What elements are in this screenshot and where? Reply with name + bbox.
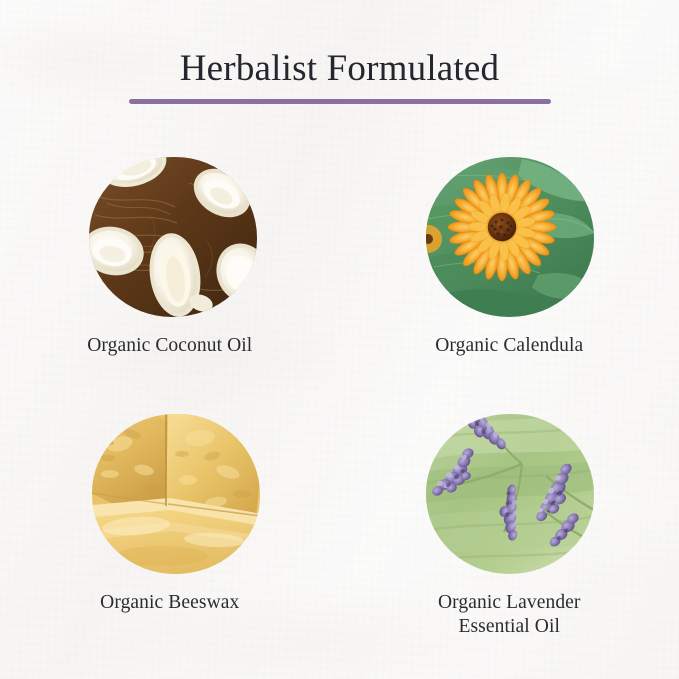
ingredient-label-calendula: Organic Calendula [435, 334, 583, 358]
coconut-halves-photo [89, 157, 257, 317]
ingredient-item-calendula: Organic Calendula [340, 157, 679, 410]
ingredient-grid: Organic Coconut Oil [0, 157, 679, 663]
beeswax-blocks-photo [92, 414, 260, 574]
title-underline-rule [129, 99, 551, 104]
ingredient-item-coconut: Organic Coconut Oil [0, 157, 340, 410]
ingredient-label-lavender-line1: Organic Lavender [438, 592, 581, 613]
lavender-sprigs-photo [426, 414, 594, 574]
page-title: Herbalist Formulated [0, 47, 679, 91]
ingredient-label-lavender-line2: Essential Oil [458, 616, 560, 637]
ingredient-item-beeswax: Organic Beeswax [0, 414, 340, 663]
ingredient-label-beeswax: Organic Beeswax [100, 591, 239, 615]
header: Herbalist Formulated [0, 47, 679, 104]
calendula-flower-photo [426, 157, 594, 317]
ingredient-label-lavender: Organic LavenderEssential Oil [438, 591, 581, 639]
ingredient-item-lavender: Organic LavenderEssential Oil [340, 414, 679, 663]
ingredient-label-coconut: Organic Coconut Oil [87, 334, 252, 358]
